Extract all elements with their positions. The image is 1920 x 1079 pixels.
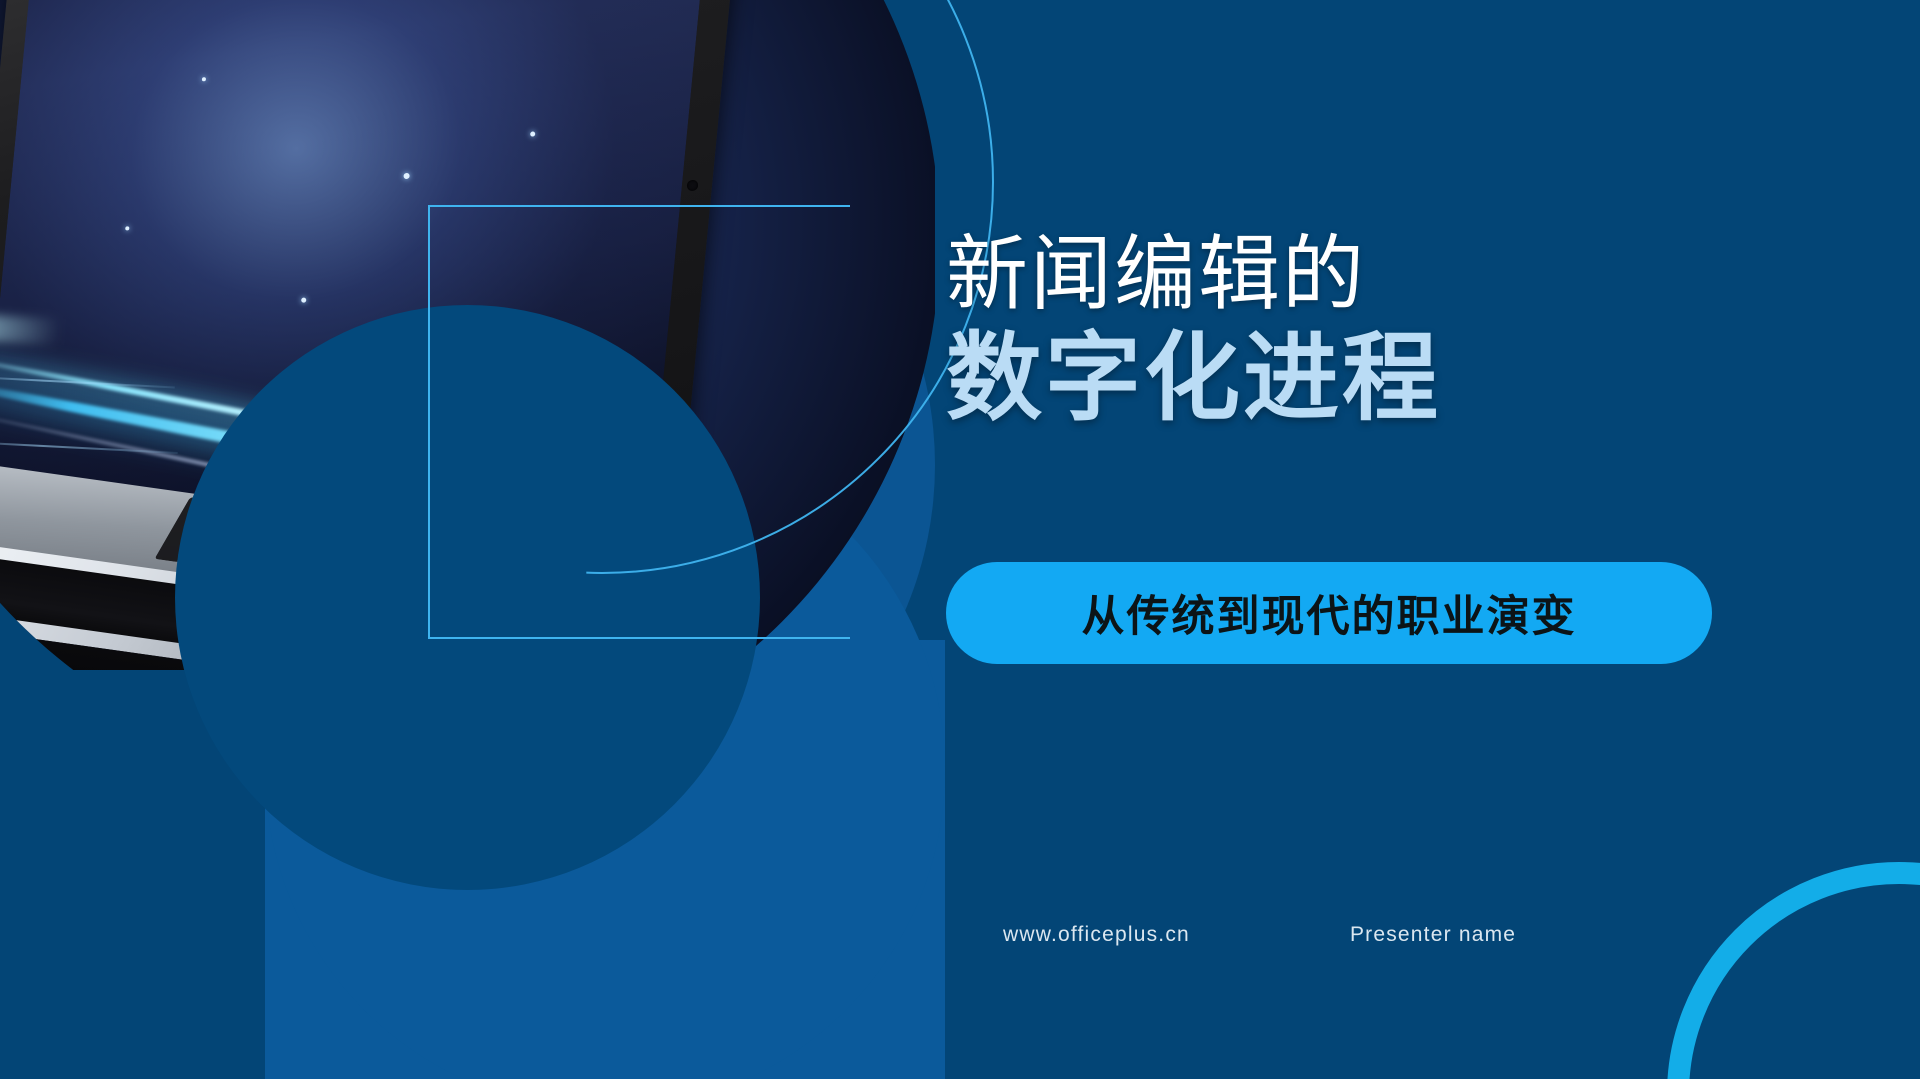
- laptop-photo: [0, 0, 935, 670]
- subtitle-pill: 从传统到现代的职业演变: [946, 562, 1712, 664]
- slide-footer: www.officeplus.cn Presenter name: [1003, 923, 1516, 947]
- subtitle-label: 从传统到现代的职业演变: [1082, 582, 1577, 644]
- laptop-camera-dot: [686, 180, 698, 192]
- screen-star: [301, 298, 306, 303]
- screen-star: [530, 131, 535, 136]
- title-line-secondary: 数字化进程: [946, 325, 1846, 433]
- screen-star: [403, 173, 410, 179]
- laptop-lid: [0, 0, 743, 557]
- screen-star: [125, 226, 129, 230]
- page-title: 新闻编辑的 数字化进程: [946, 232, 1846, 432]
- corner-ring-decoration: [1667, 862, 1920, 1079]
- photo-circular-mask: [0, 0, 935, 670]
- background-band-lower: [265, 640, 945, 1079]
- footer-presenter: Presenter name: [1350, 923, 1516, 947]
- title-slide: 新闻编辑的 数字化进程 从传统到现代的职业演变 www.officeplus.c…: [0, 0, 1920, 1079]
- laptop-screen: [0, 0, 711, 526]
- footer-website[interactable]: www.officeplus.cn: [1003, 923, 1190, 947]
- screen-star: [452, 345, 456, 349]
- screen-star: [202, 77, 206, 81]
- title-line-primary: 新闻编辑的: [946, 232, 1846, 319]
